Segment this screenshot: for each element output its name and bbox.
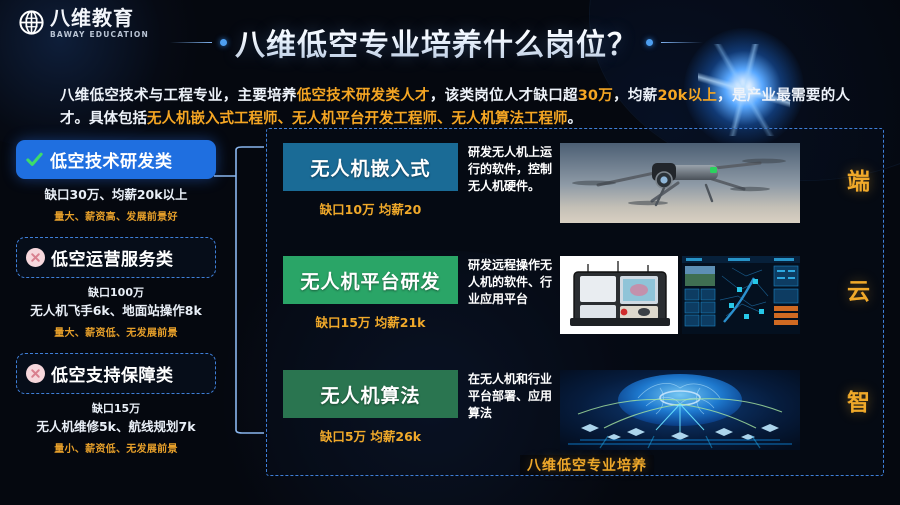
intro-highlight-2: 30万 — [578, 88, 613, 104]
category-pill-active[interactable]: 低空技术研发类 — [16, 140, 216, 179]
category-card-ops[interactable]: 低空运营服务类 缺口100万 无人机飞手6k、地面站操作8k 量大、薪资低、无发… — [16, 237, 216, 339]
title-rule-left — [170, 42, 212, 43]
category-card-rd[interactable]: 低空技术研发类 缺口30万、均薪20k以上 量大、薪资高、发展前景好 — [16, 140, 216, 223]
close-circle-icon — [26, 364, 45, 383]
job-row-platform[interactable]: 无人机平台研发 缺口15万 均薪21k 研发远程操作无人机的软件、行业应用平台 — [283, 256, 800, 338]
brand-name-cn: 八维教育 — [50, 8, 149, 28]
connector-bracket — [214, 146, 266, 434]
brand-logo: 八维教育 BAWAY EDUCATION — [18, 8, 149, 39]
job-images — [560, 256, 800, 338]
ground-control-station-photo — [560, 256, 678, 338]
page-title-block: 八维低空专业培养什么岗位？ — [170, 20, 703, 64]
drone-photo — [560, 143, 800, 227]
category-label: 低空技术研发类 — [50, 147, 173, 172]
title-dot-right — [646, 39, 653, 46]
intro-seg-1: 八维低空技术与工程专业，主要培养 — [60, 88, 297, 104]
close-circle-icon — [26, 248, 45, 267]
job-stat: 缺口15万 均薪21k — [283, 312, 458, 331]
page-title: 八维低空专业培养什么岗位？ — [235, 20, 638, 64]
category-stat: 缺口30万、均薪20k以上 — [16, 186, 216, 204]
job-images — [560, 370, 800, 454]
check-icon — [25, 150, 44, 169]
ai-brain-network-photo — [560, 370, 800, 454]
brand-name-en: BAWAY EDUCATION — [50, 31, 149, 39]
category-subtext: 量大、薪资高、发展前景好 — [16, 208, 216, 223]
job-info: 无人机算法 缺口5万 均薪26k — [283, 370, 458, 445]
vertical-char-edge: 端 — [847, 162, 870, 196]
title-rule-right — [661, 42, 703, 43]
vertical-char-intelligence: 智 — [847, 383, 870, 417]
category-stat-detail: 无人机飞手6k、地面站操作8k — [16, 302, 216, 320]
category-pill-inactive[interactable]: 低空支持保障类 — [16, 353, 216, 394]
category-subtext: 量大、薪资低、无发展前景 — [16, 324, 216, 339]
job-images — [560, 143, 800, 227]
job-stat: 缺口10万 均薪20 — [283, 199, 458, 218]
data-dashboard-photo — [682, 256, 800, 338]
category-list: 低空技术研发类 缺口30万、均薪20k以上 量大、薪资高、发展前景好 低空运营服… — [16, 140, 216, 463]
category-label: 低空运营服务类 — [51, 245, 174, 270]
intro-seg-5: 。 — [568, 111, 583, 127]
intro-highlight-1: 低空技术研发类人才 — [297, 88, 430, 104]
intro-seg-2: ，该类岗位人才缺口超 — [430, 88, 578, 104]
job-title-box: 无人机算法 — [283, 370, 458, 418]
title-dot-left — [220, 39, 227, 46]
category-label: 低空支持保障类 — [51, 361, 174, 386]
vertical-char-cloud: 云 — [847, 272, 870, 306]
job-description: 在无人机和行业平台部署、应用算法 — [468, 371, 552, 422]
category-stat: 缺口100万 — [16, 285, 216, 301]
job-row-algorithm[interactable]: 无人机算法 缺口5万 均薪26k 在无人机和行业平台部署、应用算法 — [283, 370, 800, 454]
job-description: 研发远程操作无人机的软件、行业应用平台 — [468, 257, 552, 308]
category-card-support[interactable]: 低空支持保障类 缺口15万 无人机维修5k、航线规划7k 量小、薪资低、无发展前… — [16, 353, 216, 455]
panel-tag-label: 八维低空专业培养 — [520, 455, 654, 475]
category-subtext: 量小、薪资低、无发展前景 — [16, 440, 216, 455]
category-stat: 缺口15万 — [16, 401, 216, 417]
job-info: 无人机平台研发 缺口15万 均薪21k — [283, 256, 458, 331]
intro-highlight-4: 无人机嵌入式工程师、无人机平台开发工程师、无人机算法工程师 — [147, 111, 568, 127]
job-description: 研发无人机上运行的软件，控制无人机硬件。 — [468, 144, 552, 195]
job-title-box: 无人机平台研发 — [283, 256, 458, 304]
job-info: 无人机嵌入式 缺口10万 均薪20 — [283, 143, 458, 218]
category-stat-detail: 无人机维修5k、航线规划7k — [16, 418, 216, 436]
intro-paragraph: 八维低空技术与工程专业，主要培养低空技术研发类人才，该类岗位人才缺口超30万，均… — [60, 85, 850, 132]
job-row-embedded[interactable]: 无人机嵌入式 缺口10万 均薪20 研发无人机上运行的软件，控制无人机硬件。 — [283, 143, 800, 227]
intro-highlight-3: 20k以上 — [657, 88, 717, 104]
intro-seg-3: ，均薪 — [613, 88, 657, 104]
globe-grid-icon — [18, 9, 45, 36]
slide-root: 八维教育 BAWAY EDUCATION 八维低空专业培养什么岗位？ 八维低空技… — [0, 0, 900, 505]
job-title-box: 无人机嵌入式 — [283, 143, 458, 191]
job-stat: 缺口5万 均薪26k — [283, 426, 458, 445]
category-pill-inactive[interactable]: 低空运营服务类 — [16, 237, 216, 278]
